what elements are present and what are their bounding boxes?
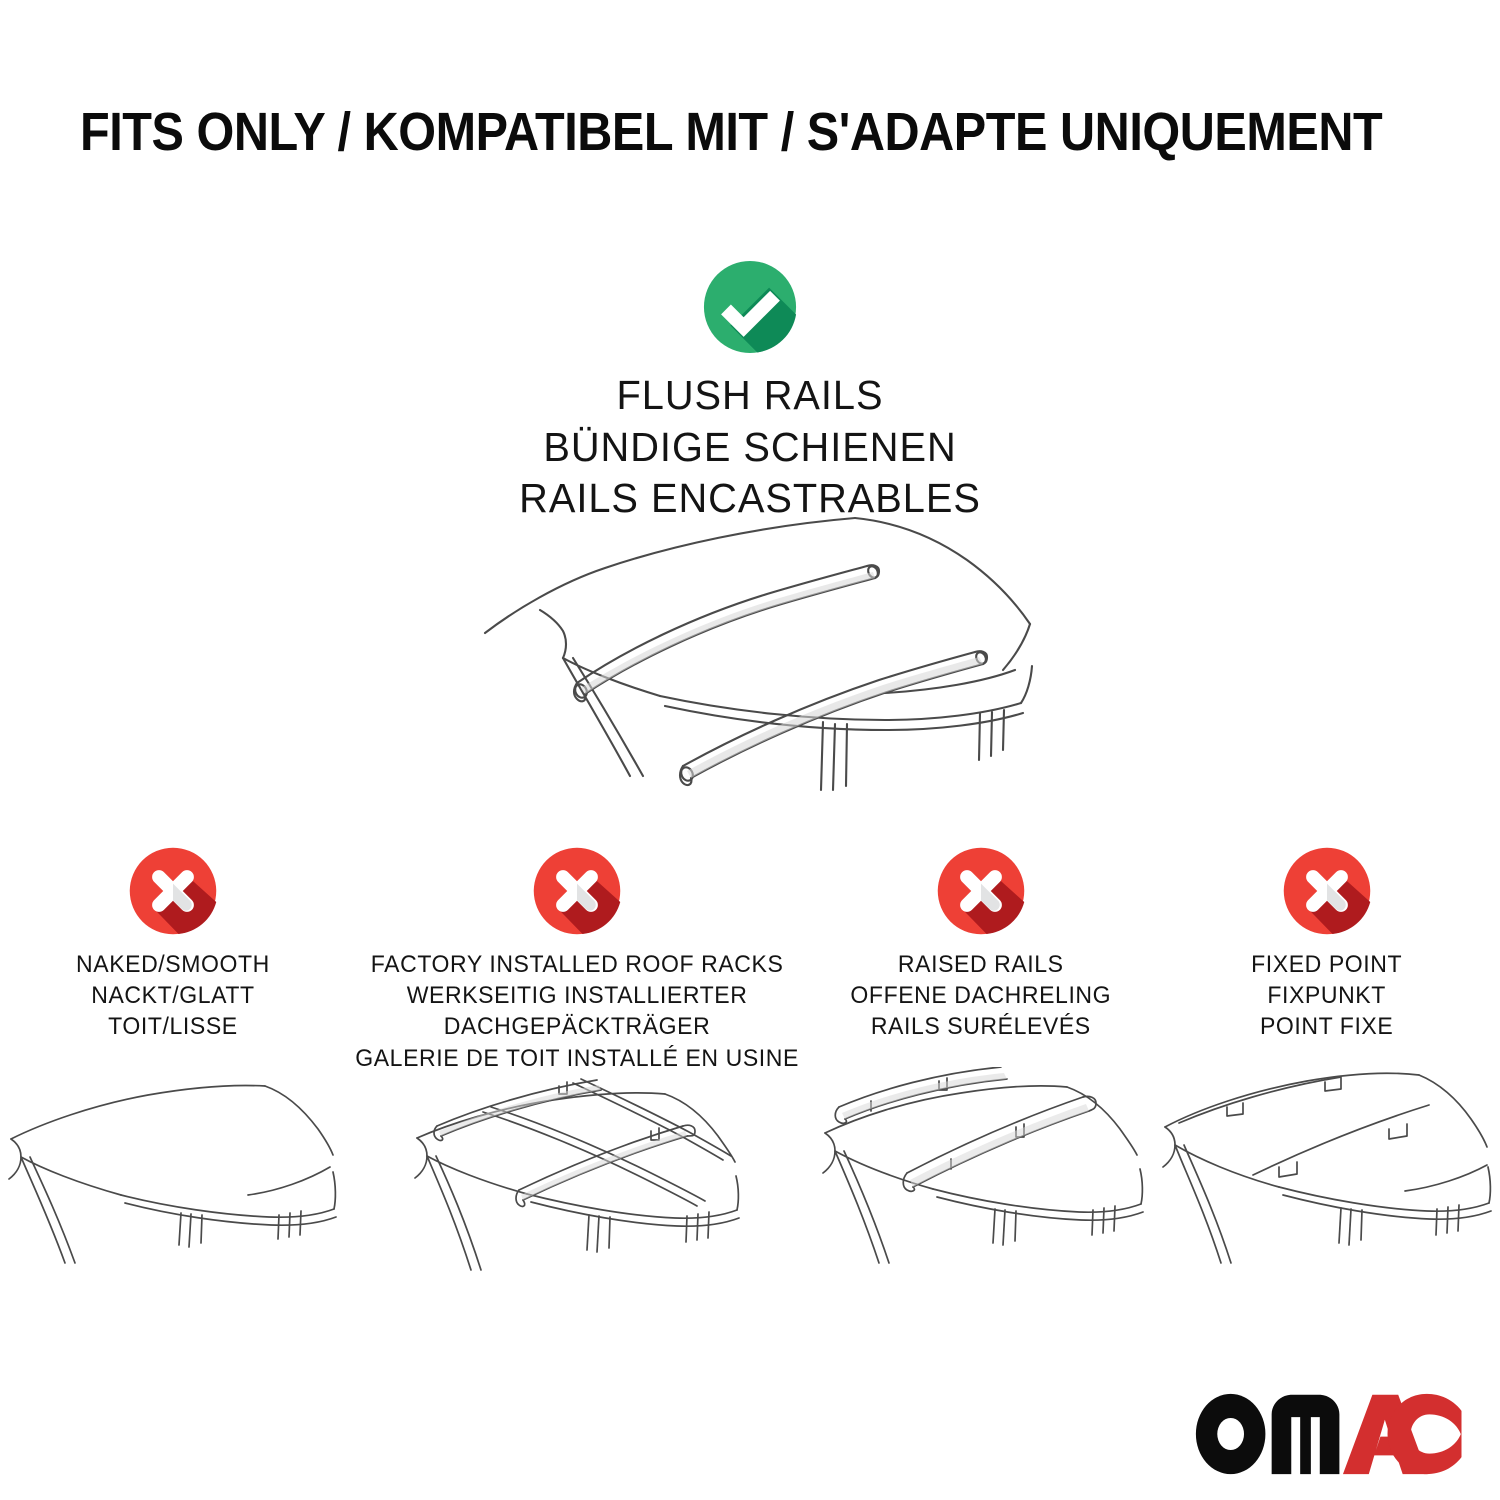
option-line-en: FACTORY INSTALLED ROOF RACKS bbox=[355, 949, 799, 980]
x-circle-icon bbox=[1281, 845, 1373, 937]
check-circle-icon bbox=[701, 258, 799, 356]
option-line-de: FIXPUNKT bbox=[1252, 980, 1403, 1011]
option-line-fr: GALERIE DE TOIT INSTALLÉ EN USINE bbox=[355, 1043, 799, 1074]
car-roof-raised-rails-illustration bbox=[811, 1067, 1151, 1282]
car-roof-factory-roof-racks-illustration bbox=[407, 1078, 747, 1293]
page-title: FITS ONLY / KOMPATIBEL MIT / S'ADAPTE UN… bbox=[80, 104, 1286, 161]
logo-letter-c bbox=[1387, 1394, 1461, 1474]
option-line-fr: TOIT/LISSE bbox=[76, 1011, 270, 1042]
option-line-en: FIXED POINT bbox=[1252, 949, 1403, 980]
approved-line-de: BÜNDIGE SCHIENEN bbox=[23, 422, 1478, 474]
logo-letter-m bbox=[1271, 1395, 1339, 1474]
approved-section: FLUSH RAILS BÜNDIGE SCHIENEN RAILS ENCAS… bbox=[0, 258, 1500, 525]
x-circle-icon bbox=[531, 845, 623, 937]
car-roof-with-flush-rails-illustration bbox=[455, 498, 1055, 798]
option-fixed-point: FIXED POINT FIXPUNKT POINT FIXE bbox=[1154, 845, 1500, 1282]
x-circle-icon bbox=[127, 845, 219, 937]
option-caption: FIXED POINT FIXPUNKT POINT FIXE bbox=[1252, 949, 1403, 1043]
option-line-de-2: DACHGEPÄCKTRÄGER bbox=[355, 1011, 799, 1042]
option-line-fr: POINT FIXE bbox=[1252, 1011, 1403, 1042]
option-line-en: NAKED/SMOOTH bbox=[76, 949, 270, 980]
option-naked-smooth: NAKED/SMOOTH NACKT/GLATT TOIT/LISSE bbox=[0, 845, 346, 1282]
logo-letter-o bbox=[1196, 1394, 1266, 1474]
x-circle-icon bbox=[935, 845, 1027, 937]
option-line-de: NACKT/GLATT bbox=[76, 980, 270, 1011]
option-caption: RAISED RAILS OFFENE DACHRELING RAILS SUR… bbox=[851, 949, 1112, 1043]
incompatible-options-row: NAKED/SMOOTH NACKT/GLATT TOIT/LISSE bbox=[0, 845, 1500, 1293]
brand-logo-omac bbox=[1195, 1388, 1462, 1480]
option-line-de: OFFENE DACHRELING bbox=[851, 980, 1112, 1011]
option-line-fr: RAILS SURÉLEVÉS bbox=[851, 1011, 1112, 1042]
car-roof-fixed-point-illustration bbox=[1157, 1067, 1497, 1282]
approved-line-en: FLUSH RAILS bbox=[23, 370, 1478, 422]
option-factory-roof-racks: FACTORY INSTALLED ROOF RACKS WERKSEITIG … bbox=[346, 845, 808, 1293]
option-caption: NAKED/SMOOTH NACKT/GLATT TOIT/LISSE bbox=[76, 949, 270, 1043]
option-caption: FACTORY INSTALLED ROOF RACKS WERKSEITIG … bbox=[355, 949, 799, 1074]
option-line-en: RAISED RAILS bbox=[851, 949, 1112, 980]
car-roof-naked-smooth-illustration bbox=[3, 1067, 343, 1282]
option-raised-rails: RAISED RAILS OFFENE DACHRELING RAILS SUR… bbox=[808, 845, 1154, 1282]
option-line-de-1: WERKSEITIG INSTALLIERTER bbox=[355, 980, 799, 1011]
